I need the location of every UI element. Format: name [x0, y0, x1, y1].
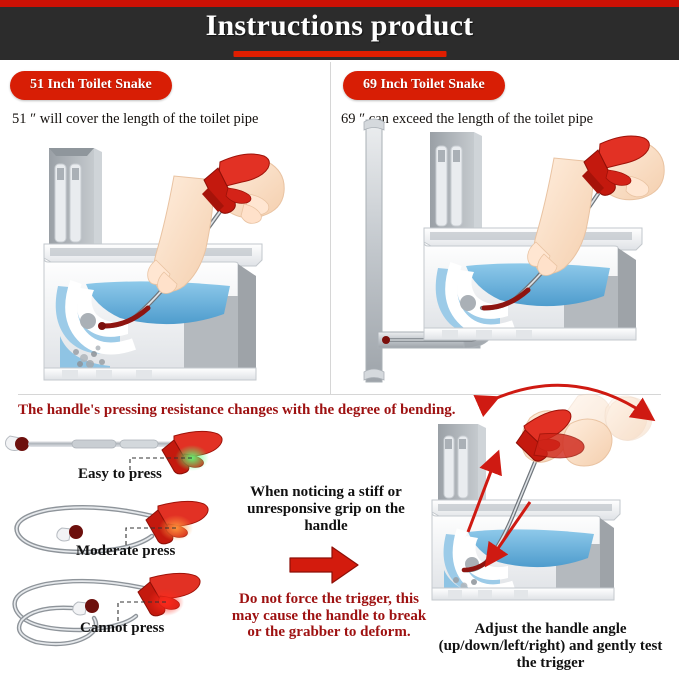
illustration-toilet-69	[356, 136, 672, 388]
stiff-grip-note: When noticing a stiff or unresponsive gr…	[238, 484, 414, 534]
label-moderate-press: Moderate press	[76, 543, 175, 560]
bending-headline: The handle's pressing resistance changes…	[18, 402, 456, 419]
label-easy-to-press: Easy to press	[78, 466, 162, 483]
badge-69-inch: 69 Inch Toilet Snake	[343, 71, 505, 100]
header-bar: Instructions product	[0, 7, 679, 60]
illustration-toilet-51	[24, 136, 324, 388]
illustration-adjust-angle	[424, 404, 676, 620]
horizontal-divider	[18, 394, 661, 395]
page-title: Instructions product	[0, 9, 679, 43]
label-cannot-press: Cannot press	[80, 620, 164, 637]
badge-51-inch: 51 Inch Toilet Snake	[10, 71, 172, 100]
caption-51-inch: 51 ″ will cover the length of the toilet…	[12, 111, 258, 128]
vertical-divider	[330, 62, 331, 394]
red-right-arrow-icon	[288, 545, 360, 585]
adjust-angle-note: Adjust the handle angle (up/down/left/ri…	[432, 621, 669, 671]
top-accent-stripe	[0, 0, 679, 7]
title-underline	[233, 51, 446, 57]
instruction-sheet: Instructions product 51 Inch Toilet Snak…	[0, 0, 679, 676]
do-not-force-warning: Do not force the trigger, this may cause…	[231, 591, 427, 641]
